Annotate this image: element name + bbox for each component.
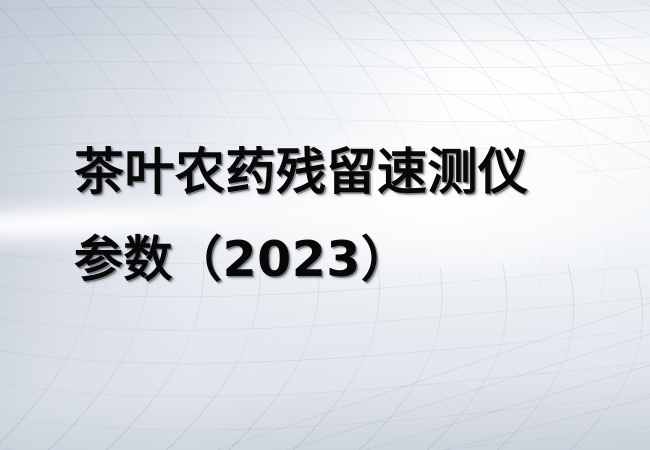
title-line-secondary: 参数（2023） bbox=[74, 216, 594, 304]
page-title: 茶叶农药残留速测仪 参数（2023） bbox=[74, 128, 594, 304]
title-banner: 茶叶农药残留速测仪 参数（2023） bbox=[0, 0, 650, 450]
title-line-primary: 茶叶农药残留速测仪 bbox=[74, 128, 594, 216]
